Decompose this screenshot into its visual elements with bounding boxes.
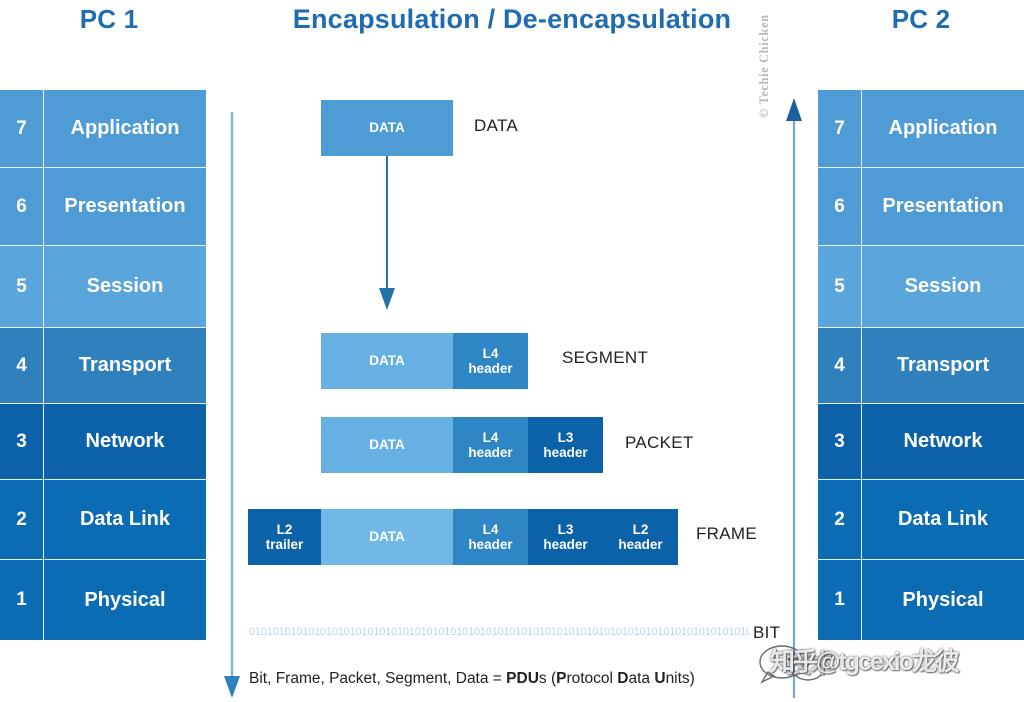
pdu-cell-l2-header: L2header: [603, 509, 678, 565]
pdu-label-frame: FRAME: [696, 524, 757, 544]
osi-layer-number: 7: [818, 90, 862, 167]
osi-layer-transport-pc1: 4Transport: [0, 328, 206, 404]
pdu-cell-l4-header: L4header: [453, 333, 528, 389]
pdu-row-data: DATA: [321, 100, 453, 156]
pdu-cell-line2: header: [468, 537, 512, 552]
osi-layer-number: 4: [818, 328, 862, 403]
osi-layer-name: Network: [44, 404, 206, 479]
osi-layer-name: Session: [44, 246, 206, 327]
pdu-cell-line1: DATA: [369, 529, 405, 544]
pdu-cell-line1: L4: [483, 346, 499, 361]
pdu-cell-line1: L3: [558, 430, 574, 445]
pdu-cell-line2: header: [543, 537, 587, 552]
pdu-cell-line2: header: [468, 361, 512, 376]
osi-layer-network-pc1: 3Network: [0, 404, 206, 480]
pdu-cell-line1: DATA: [369, 437, 405, 452]
diagram-canvas: PC 1 Encapsulation / De-encapsulation PC…: [0, 0, 1024, 702]
osi-layer-physical-pc1: 1Physical: [0, 560, 206, 640]
osi-layer-application-pc1: 7Application: [0, 90, 206, 168]
pdu-cell-l4-header: L4header: [453, 509, 528, 565]
caption-d-bold: D: [617, 670, 628, 687]
pdu-cell-l3-header: L3header: [528, 417, 603, 473]
osi-layer-name: Session: [862, 246, 1024, 327]
pdu-cell-data: DATA: [321, 100, 453, 156]
pdu-cell-data: DATA: [321, 417, 453, 473]
osi-layer-name: Transport: [862, 328, 1024, 403]
pc1-title: PC 1: [0, 4, 218, 35]
pc2-title: PC 2: [818, 4, 1024, 35]
pdu-cell-line2: header: [618, 537, 662, 552]
pdu-cell-l3-header: L3header: [528, 509, 603, 565]
pdu-cell-line2: trailer: [266, 537, 304, 552]
bitstream-text: 0101010101010101010101010101010101010101…: [249, 626, 749, 638]
copyright-credit: © Techie Chicken: [757, 0, 772, 118]
pdu-cell-line1: DATA: [369, 120, 405, 135]
osi-layer-presentation-pc1: 6Presentation: [0, 168, 206, 246]
encapsulation-arrow-down: [222, 112, 242, 702]
diagram-title: Encapsulation / De-encapsulation: [232, 4, 792, 35]
osi-layer-number: 1: [0, 560, 44, 640]
osi-layer-number: 5: [818, 246, 862, 327]
pdu-row-packet: DATAL4headerL3header: [321, 417, 603, 473]
pdu-cell-line2: header: [468, 445, 512, 460]
osi-layer-name: Application: [862, 90, 1024, 167]
osi-layer-name: Physical: [862, 560, 1024, 640]
osi-stack-pc2: 7Application6Presentation5Session4Transp…: [818, 90, 1024, 640]
pdu-cell-line1: L3: [558, 522, 574, 537]
caption-p-bold: P: [556, 670, 566, 687]
osi-layer-name: Data Link: [862, 480, 1024, 559]
osi-layer-session-pc2: 5Session: [818, 246, 1024, 328]
osi-layer-session-pc1: 5Session: [0, 246, 206, 328]
caption-part2: s (: [539, 670, 556, 687]
caption-rotocol: rotocol: [566, 670, 617, 687]
osi-layer-data-link-pc1: 2Data Link: [0, 480, 206, 560]
osi-layer-name: Transport: [44, 328, 206, 403]
osi-layer-number: 1: [818, 560, 862, 640]
pdu-cell-line1: L4: [483, 522, 499, 537]
pdu-caption: Bit, Frame, Packet, Segment, Data = PDUs…: [249, 670, 695, 688]
osi-layer-number: 3: [0, 404, 44, 479]
osi-layer-application-pc2: 7Application: [818, 90, 1024, 168]
pdu-label-data: DATA: [474, 116, 518, 136]
osi-layer-presentation-pc2: 6Presentation: [818, 168, 1024, 246]
pdu-cell-data: DATA: [321, 509, 453, 565]
osi-layer-name: Data Link: [44, 480, 206, 559]
osi-layer-number: 6: [0, 168, 44, 245]
caption-pdu-bold: PDU: [506, 670, 539, 687]
pdu-cell-line1: DATA: [369, 353, 405, 368]
pdu-label-segment: SEGMENT: [562, 348, 648, 368]
osi-layer-network-pc2: 3Network: [818, 404, 1024, 480]
osi-layer-name: Presentation: [44, 168, 206, 245]
pdu-cell-line1: L2: [277, 522, 293, 537]
osi-stack-pc1: 7Application6Presentation5Session4Transp…: [0, 90, 206, 640]
pdu-row-frame: L2trailerDATAL4headerL3headerL2header: [248, 509, 678, 565]
osi-layer-number: 2: [0, 480, 44, 559]
caption-part1: Bit, Frame, Packet, Segment, Data =: [249, 670, 506, 687]
caption-u-bold: U: [654, 670, 665, 687]
osi-layer-number: 6: [818, 168, 862, 245]
pdu-cell-data: DATA: [321, 333, 453, 389]
osi-layer-name: Presentation: [862, 168, 1024, 245]
pdu-cell-line1: L2: [633, 522, 649, 537]
osi-layer-number: 3: [818, 404, 862, 479]
pdu-label-packet: PACKET: [625, 433, 694, 453]
osi-layer-data-link-pc2: 2Data Link: [818, 480, 1024, 560]
caption-ata: ata: [629, 670, 655, 687]
pdu-cell-line2: header: [543, 445, 587, 460]
pdu-cell-l2-trailer: L2trailer: [248, 509, 321, 565]
pdu-label-bit: BIT: [753, 623, 780, 643]
pdu-cell-l4-header: L4header: [453, 417, 528, 473]
osi-layer-physical-pc2: 1Physical: [818, 560, 1024, 640]
osi-layer-name: Network: [862, 404, 1024, 479]
osi-layer-transport-pc2: 4Transport: [818, 328, 1024, 404]
osi-layer-number: 7: [0, 90, 44, 167]
osi-layer-number: 5: [0, 246, 44, 327]
osi-layer-number: 2: [818, 480, 862, 559]
flow-connector-arrow: [377, 156, 397, 317]
osi-layer-number: 4: [0, 328, 44, 403]
pdu-row-segment: DATAL4header: [321, 333, 528, 389]
osi-layer-name: Physical: [44, 560, 206, 640]
deencapsulation-arrow-up: [784, 98, 804, 702]
osi-layer-name: Application: [44, 90, 206, 167]
pdu-cell-line1: L4: [483, 430, 499, 445]
caption-nits: nits): [666, 670, 695, 687]
